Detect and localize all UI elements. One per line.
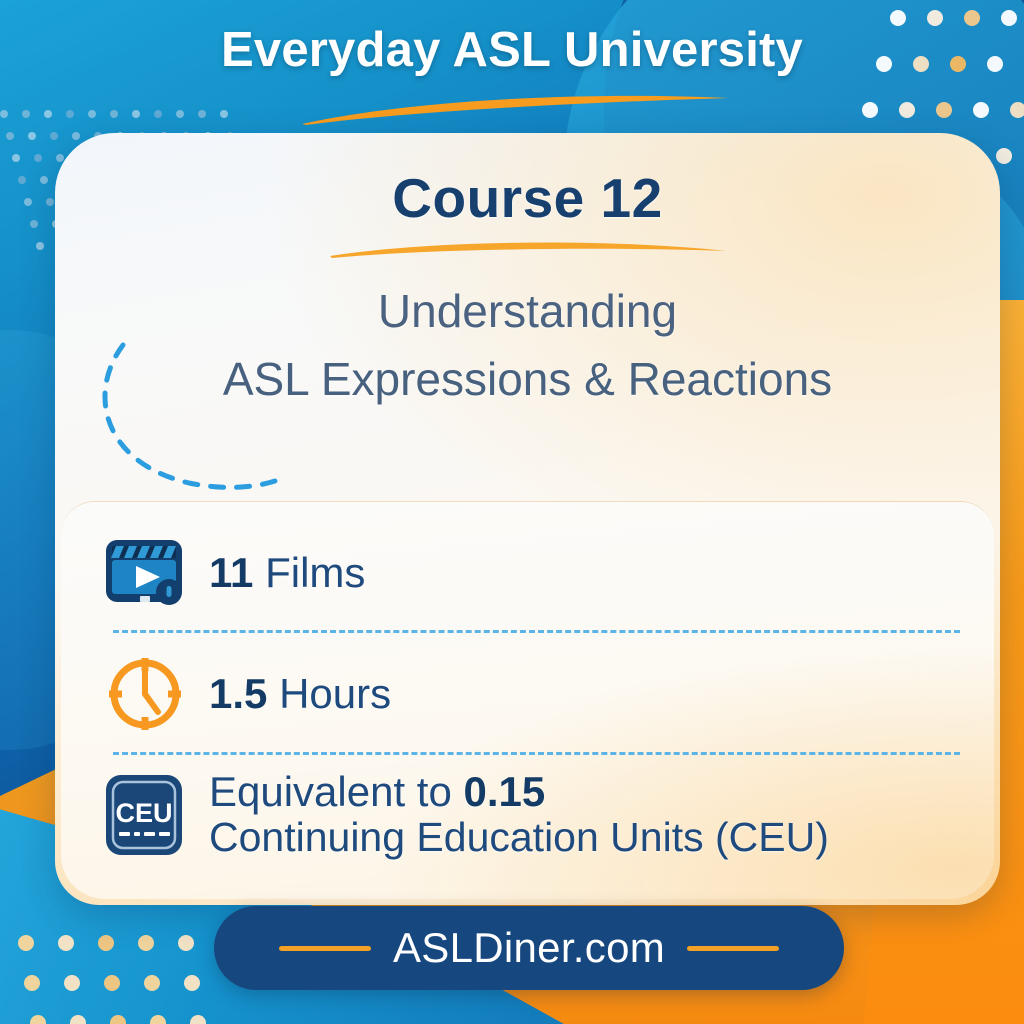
ceu-prefix: Equivalent to bbox=[209, 768, 452, 815]
hours-label: Hours bbox=[279, 670, 391, 717]
course-divider-swoosh-icon bbox=[328, 236, 728, 260]
stat-text-hours: 1.5 Hours bbox=[209, 670, 391, 717]
course-subtitle-line2: ASL Expressions & Reactions bbox=[223, 352, 832, 406]
header: Everyday ASL University bbox=[0, 0, 1024, 150]
films-label: Films bbox=[265, 549, 365, 596]
stat-row-films: 11 Films bbox=[103, 524, 968, 622]
stat-text-films: 11 Films bbox=[209, 549, 365, 596]
ceu-badge-text: CEU bbox=[115, 798, 172, 828]
footer-dash-left-icon bbox=[279, 946, 371, 951]
stats-panel: 11 Films bbox=[61, 501, 994, 899]
stat-row-ceu: CEU Equivalent to 0.15 Contin bbox=[103, 768, 968, 886]
footer-dash-right-icon bbox=[687, 946, 779, 951]
footer-website-url: ASLDiner.com bbox=[393, 924, 665, 972]
separator-1 bbox=[113, 630, 960, 633]
ceu-description: Continuing Education Units (CEU) bbox=[209, 815, 829, 861]
stat-row-hours: 1.5 Hours bbox=[103, 646, 968, 742]
footer-website-pill[interactable]: ASLDiner.com bbox=[214, 906, 844, 990]
stat-text-ceu: Equivalent to 0.15 Continuing Education … bbox=[209, 768, 829, 861]
clock-icon bbox=[103, 652, 199, 736]
ceu-value: 0.15 bbox=[464, 768, 546, 815]
dashed-arc-decoration bbox=[93, 333, 283, 503]
course-number-title: Course 12 bbox=[392, 166, 662, 230]
page-title: Everyday ASL University bbox=[221, 22, 803, 78]
films-count: 11 bbox=[209, 549, 253, 596]
separator-2 bbox=[113, 752, 960, 755]
ceu-badge-icon: CEU bbox=[103, 768, 199, 858]
course-subtitle-line1: Understanding bbox=[378, 284, 677, 338]
course-card: Course 12 Understanding ASL Expressions … bbox=[55, 133, 1000, 905]
header-swoosh-icon bbox=[300, 92, 730, 126]
film-play-icon bbox=[103, 534, 199, 612]
hours-count: 1.5 bbox=[209, 670, 267, 717]
poster-canvas: Everyday ASL University Course 12 Unders… bbox=[0, 0, 1024, 1024]
